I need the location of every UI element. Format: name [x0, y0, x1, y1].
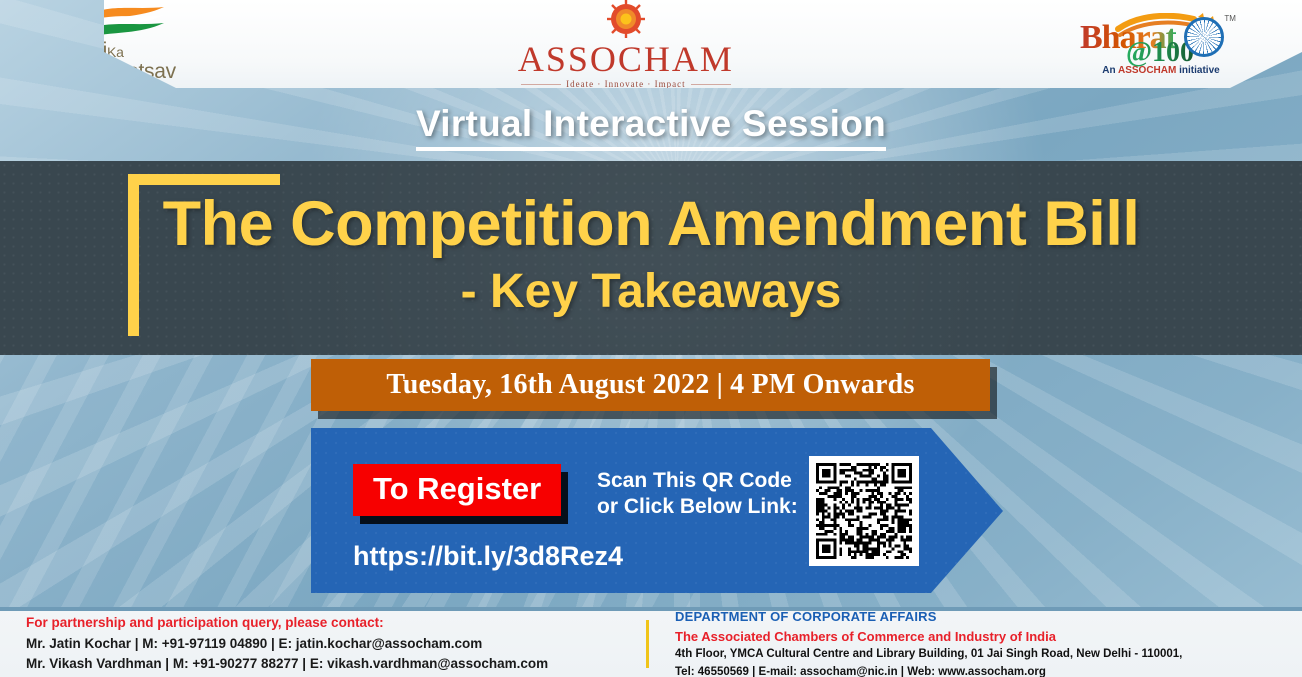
assocham-tagline: Ideate · Innovate · Impact	[521, 80, 730, 89]
registration-qr-code[interactable]	[809, 456, 919, 566]
azadi-ka-amrit-mahotsav-logo: 75 AzadiKa AmritMahotsav	[56, 6, 176, 82]
trademark-symbol: TM	[1224, 15, 1236, 23]
header-logo-bar: 75 AzadiKa AmritMahotsav	[0, 0, 1302, 88]
footer-organisation: DEPARTMENT OF CORPORATE AFFAIRS The Asso…	[649, 607, 1302, 677]
footer-contacts: For partnership and participation query,…	[0, 613, 646, 676]
footer-department: DEPARTMENT OF CORPORATE AFFAIRS	[675, 607, 1302, 627]
footer-bar: For partnership and participation query,…	[0, 607, 1302, 677]
event-title: The Competition Amendment Bill - Key Tak…	[0, 193, 1302, 316]
ashoka-chakra-icon	[1184, 17, 1224, 57]
event-poster: 75 AzadiKa AmritMahotsav	[0, 0, 1302, 677]
footer-contact-info: Tel: 46550569 | E-mail: assocham@nic.in …	[675, 664, 1302, 677]
footer-org-name: The Associated Chambers of Commerce and …	[675, 627, 1302, 647]
footer-contact-2: Mr. Vikash Vardhman | M: +91-90277 88277…	[26, 654, 646, 675]
azadi-wordmark: AzadiKa AmritMahotsav	[56, 40, 176, 82]
to-register-label: To Register	[373, 471, 541, 506]
event-datetime-text: Tuesday, 16th August 2022 | 4 PM Onwards	[386, 369, 914, 401]
assocham-wordmark: ASSOCHAM	[518, 41, 734, 77]
event-datetime-bar: Tuesday, 16th August 2022 | 4 PM Onwards	[311, 359, 990, 411]
to-register-button[interactable]: To Register	[353, 464, 561, 516]
footer-address: 4th Floor, YMCA Cultural Centre and Libr…	[675, 646, 1302, 663]
event-title-subtitle: - Key Takeaways	[0, 268, 1302, 316]
assocham-logo: ASSOCHAM Ideate · Innovate · Impact	[518, 0, 734, 89]
footer-contact-1: Mr. Jatin Kochar | M: +91-97119 04890 | …	[26, 634, 646, 655]
ashoka-chakra-icon	[70, 14, 87, 31]
seventy-five-mark: 75	[56, 4, 79, 31]
registration-panel: To Register Scan This QR Code or Click B…	[311, 428, 1003, 593]
scan-instruction-line2: or Click Below Link:	[597, 494, 798, 520]
bharat-at-100-logo: Bharat @100 TM An ASSOCHAM initiative	[1076, 13, 1246, 76]
footer-contacts-heading: For partnership and participation query,…	[26, 613, 646, 634]
session-type-label: Virtual Interactive Session	[0, 103, 1302, 145]
sun-burst-icon	[606, 0, 646, 39]
registration-link[interactable]: https://bit.ly/3d8Rez4	[353, 541, 623, 572]
event-title-main: The Competition Amendment Bill	[0, 193, 1302, 256]
indian-tricolour-flag-icon	[90, 6, 168, 44]
at-100-wordmark: @100	[1126, 39, 1194, 67]
scan-instruction: Scan This QR Code or Click Below Link:	[597, 468, 798, 521]
scan-instruction-line1: Scan This QR Code	[597, 468, 798, 494]
